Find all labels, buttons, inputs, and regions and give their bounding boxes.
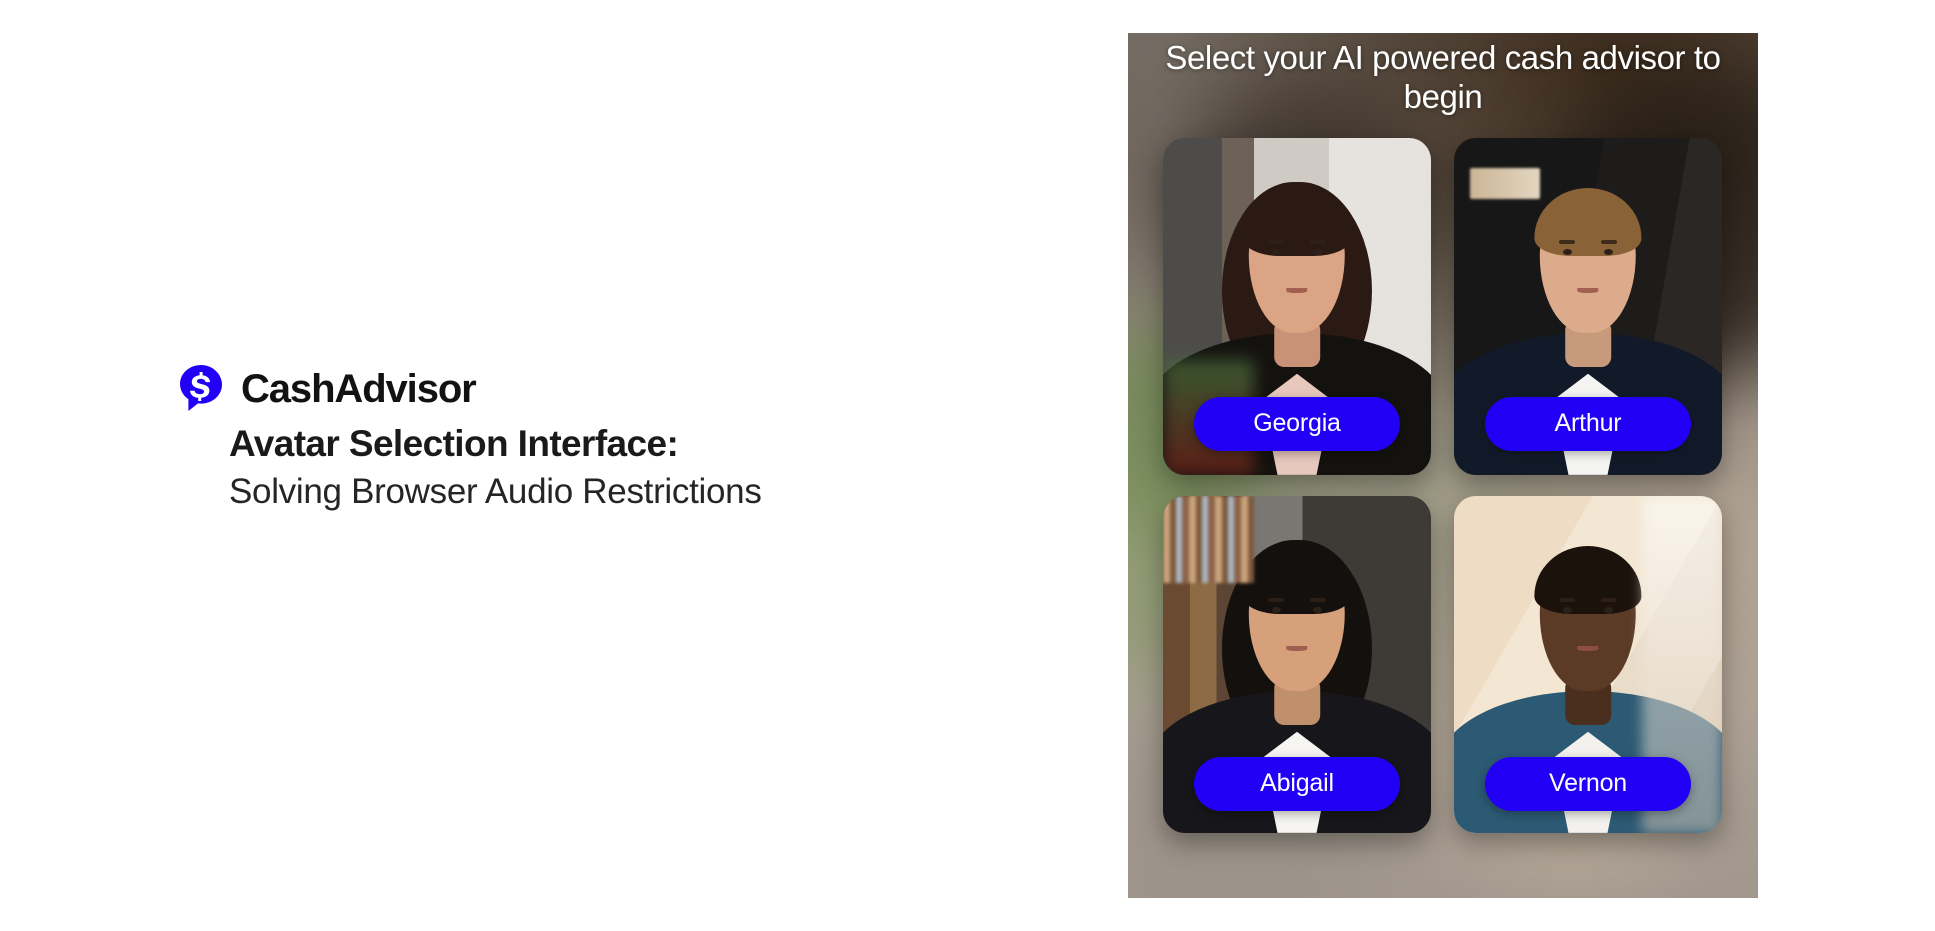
branding-block: CashAdvisor Avatar Selection Interface: … [173,360,953,512]
avatar-grid: Georgia [1163,138,1723,833]
slide-canvas: CashAdvisor Avatar Selection Interface: … [0,0,1935,931]
slide-headline: Avatar Selection Interface: [229,422,953,466]
brand-row: CashAdvisor [173,360,953,418]
panel-title: Select your AI powered cash advisor to b… [1163,39,1723,117]
avatar-select-button-arthur[interactable]: Arthur [1485,397,1691,451]
avatar-name-label: Georgia [1253,409,1341,438]
cash-speech-bubble-dollar-icon [173,361,229,417]
avatar-select-button-vernon[interactable]: Vernon [1485,757,1691,811]
avatar-name-label: Abigail [1260,769,1334,798]
avatar-name-label: Arthur [1555,409,1622,438]
avatar-selection-panel: Select your AI powered cash advisor to b… [1128,33,1758,898]
avatar-select-button-abigail[interactable]: Abigail [1194,757,1400,811]
avatar-card-arthur[interactable]: Arthur [1454,138,1722,475]
brand-name: CashAdvisor [241,369,476,409]
avatar-select-button-georgia[interactable]: Georgia [1194,397,1400,451]
avatar-card-vernon[interactable]: Vernon [1454,496,1722,833]
avatar-name-label: Vernon [1549,769,1627,798]
avatar-card-georgia[interactable]: Georgia [1163,138,1431,475]
avatar-card-abigail[interactable]: Abigail [1163,496,1431,833]
slide-subhead: Solving Browser Audio Restrictions [229,471,953,512]
